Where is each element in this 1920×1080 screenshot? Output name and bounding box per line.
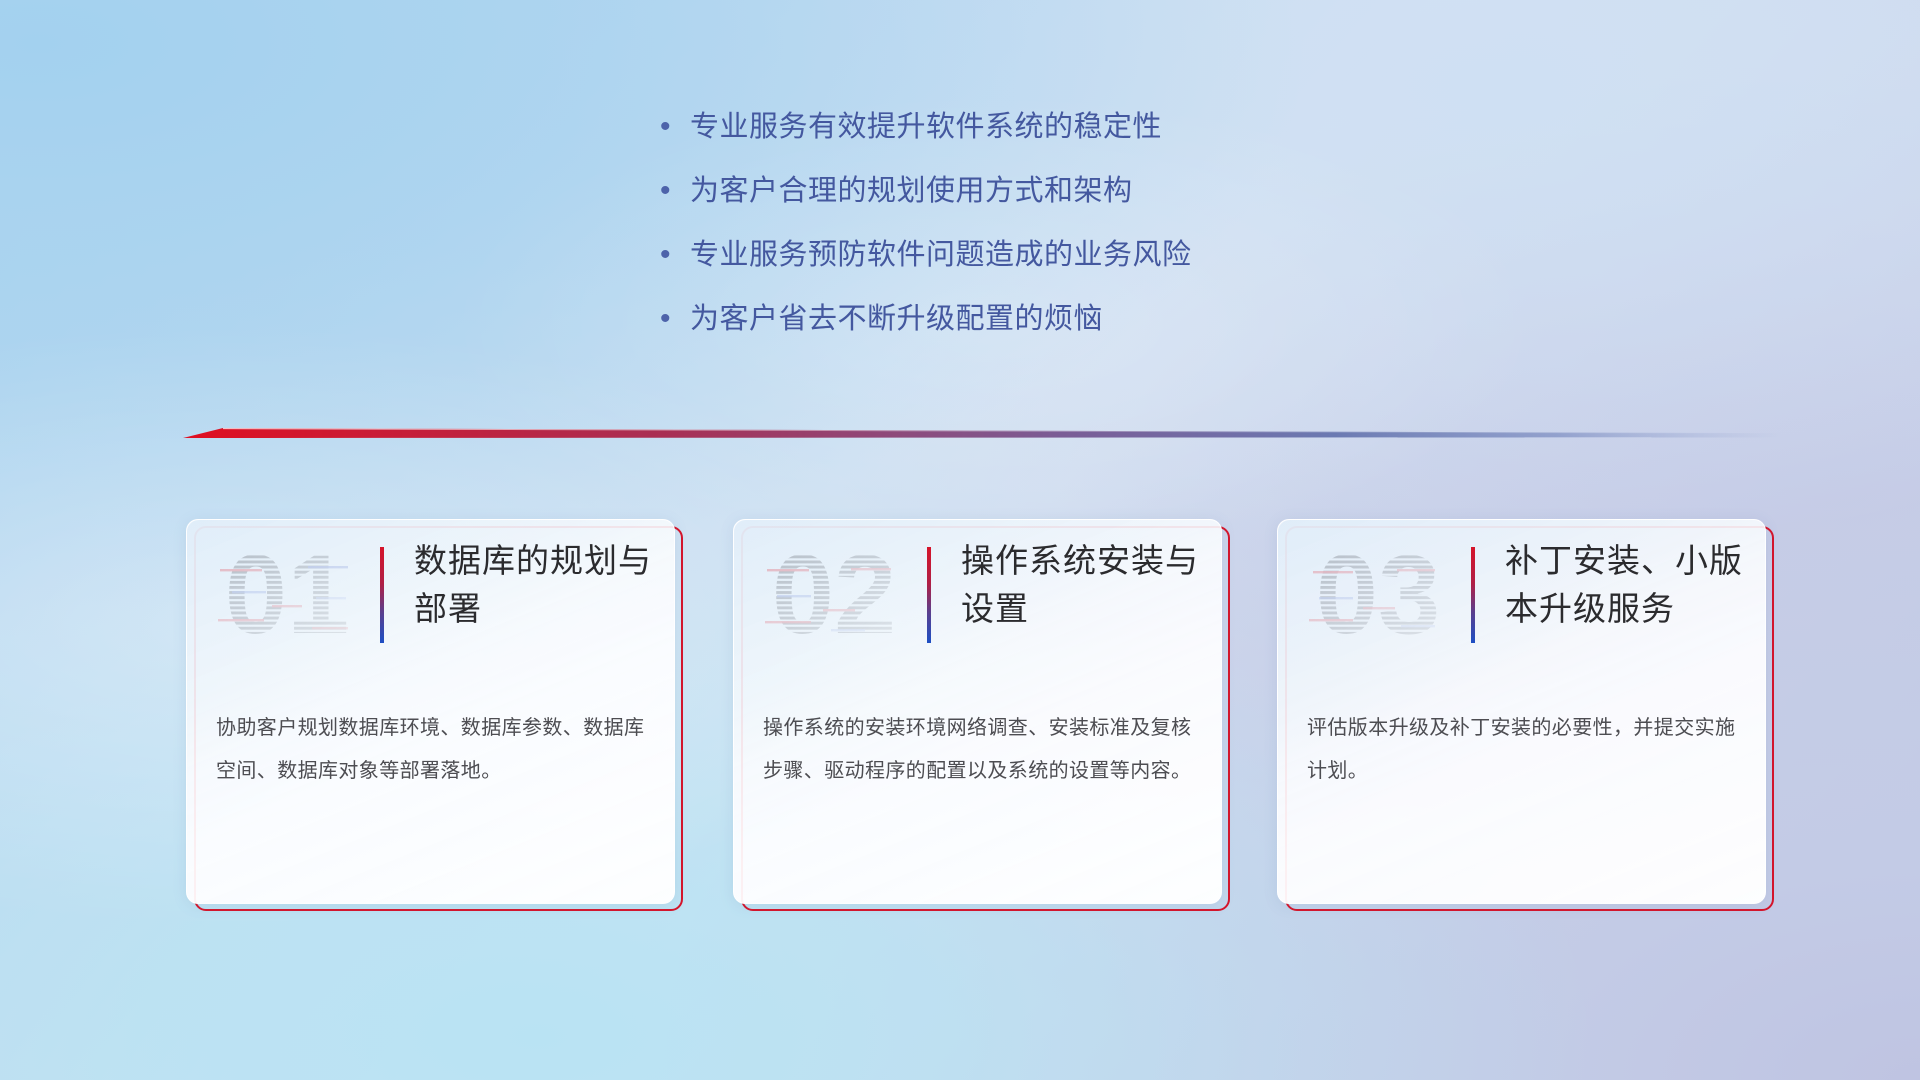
service-card-list: 01 数据库的规划与部署 协助客户规划数据库环境、数据库参数、数 [0, 519, 1920, 919]
service-card[interactable]: 02 操作系统安装与设置 操作系统的安装环境网络调查、安装标准及复核步骤、驱动程… [733, 519, 1230, 911]
card-number-02: 02 [759, 535, 909, 655]
card-body-text: 协助客户规划数据库环境、数据库参数、数据库空间、数据库对象等部署落地。 [216, 707, 648, 793]
section-divider [183, 424, 1783, 446]
svg-text:03: 03 [1316, 535, 1441, 655]
glitch-number-graphic: 02 [759, 535, 909, 655]
card-accent-bar [927, 547, 931, 643]
svg-text:01: 01 [225, 535, 350, 655]
list-item: • 专业服务有效提升软件系统的稳定性 [660, 105, 1560, 169]
card-title: 补丁安装、小版本升级服务 [1505, 537, 1755, 633]
card-header: 03 补丁安装、小版本升级服务 [1277, 519, 1766, 669]
card-accent-bar [380, 547, 384, 643]
list-item: • 为客户合理的规划使用方式和架构 [660, 169, 1560, 233]
service-card[interactable]: 03 补丁安装、小版本升级服务 评估版本升级及补丁安装的必要性，并提交实施计划。 [1277, 519, 1774, 911]
card-body-text: 操作系统的安装环境网络调查、安装标准及复核步骤、驱动程序的配置以及系统的设置等内… [763, 707, 1195, 793]
card-body-text: 评估版本升级及补丁安装的必要性，并提交实施计划。 [1307, 707, 1739, 793]
list-item: • 专业服务预防软件问题造成的业务风险 [660, 233, 1560, 297]
service-card[interactable]: 01 数据库的规划与部署 协助客户规划数据库环境、数据库参数、数 [186, 519, 683, 911]
bullet-text: 为客户省去不断升级配置的烦恼 [690, 297, 1103, 341]
card-header: 01 数据库的规划与部署 [186, 519, 675, 669]
glitch-number-graphic: 03 [1303, 535, 1453, 655]
bullet-dot-icon: • [660, 233, 690, 277]
benefits-bullet-list: • 专业服务有效提升软件系统的稳定性 • 为客户合理的规划使用方式和架构 • 专… [660, 105, 1560, 361]
card-header: 02 操作系统安装与设置 [733, 519, 1222, 669]
card-title: 数据库的规划与部署 [414, 537, 664, 633]
bullet-text: 为客户合理的规划使用方式和架构 [690, 169, 1133, 213]
bullet-text: 专业服务有效提升软件系统的稳定性 [690, 105, 1162, 149]
bullet-dot-icon: • [660, 105, 690, 149]
list-item: • 为客户省去不断升级配置的烦恼 [660, 297, 1560, 361]
glitch-number-graphic: 01 [212, 535, 362, 655]
card-number-01: 01 [212, 535, 362, 655]
card-accent-bar [1471, 547, 1475, 643]
bullet-dot-icon: • [660, 169, 690, 213]
bullet-dot-icon: • [660, 297, 690, 341]
divider-shape [183, 424, 1783, 446]
bullet-text: 专业服务预防软件问题造成的业务风险 [690, 233, 1192, 277]
card-number-03: 03 [1303, 535, 1453, 655]
card-title: 操作系统安装与设置 [961, 537, 1211, 633]
